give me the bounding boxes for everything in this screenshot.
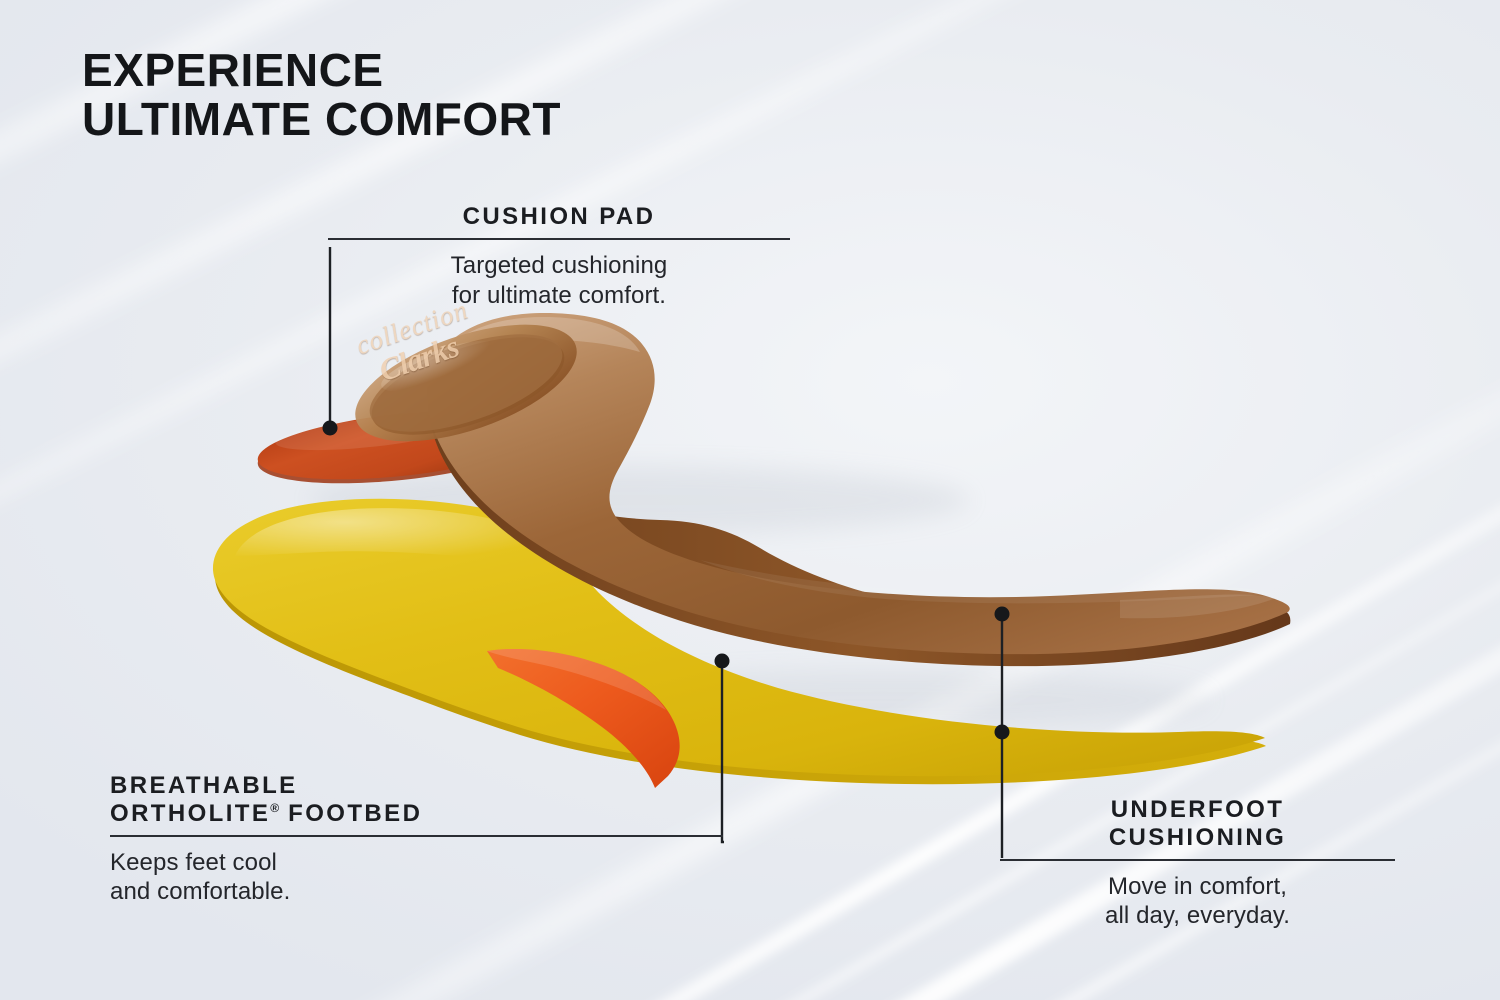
callout-ortholite-title-line2-post: FOOTBED (279, 800, 422, 827)
callout-underfoot-title: UNDERFOOT CUSHIONING (1000, 796, 1395, 852)
callout-ortholite-title: BREATHABLEORTHOLITE® FOOTBED (110, 772, 723, 828)
callout-ortholite-title-line2: ORTHOLITE (110, 800, 270, 827)
callout-cushion-pad-rule (328, 238, 790, 240)
callout-ortholite-title-line1: BREATHABLE (110, 772, 298, 799)
callout-cushion-pad-body: Targeted cushioning for ultimate comfort… (328, 251, 790, 311)
callout-ortholite-footbed: BREATHABLEORTHOLITE® FOOTBED Keeps feet … (110, 772, 723, 907)
callout-cushion-pad: CUSHION PAD Targeted cushioning for ulti… (328, 203, 790, 310)
infographic-canvas: collection Clarks EXPERIENCE ULTIMATE CO… (0, 0, 1500, 1000)
callout-cushion-pad-title: CUSHION PAD (328, 203, 790, 231)
callout-underfoot-rule (1000, 859, 1395, 861)
callout-underfoot-body: Move in comfort, all day, everyday. (1000, 872, 1395, 932)
callout-underfoot-cushioning: UNDERFOOT CUSHIONING Move in comfort, al… (1000, 796, 1395, 931)
callout-ortholite-rule (110, 835, 723, 837)
registered-mark-icon: ® (270, 801, 279, 815)
callout-ortholite-body: Keeps feet cool and comfortable. (110, 848, 723, 908)
page-title: EXPERIENCE ULTIMATE COMFORT (82, 46, 561, 144)
